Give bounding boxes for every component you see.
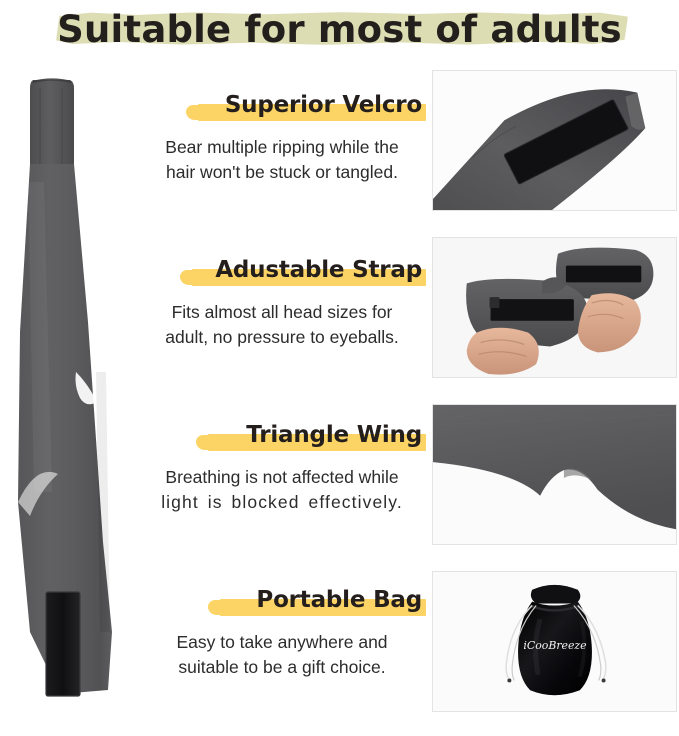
- feature-body-line-1: Easy to take anywhere and: [142, 630, 422, 655]
- feature-item-triangle-wing: Triangle Wing Breathing is not affected …: [138, 414, 428, 571]
- feature-heading-row: Triangle Wing: [138, 414, 428, 456]
- drawstring-pouch-illustration: iCooBreeze: [433, 572, 676, 711]
- feature-heading-row: Superior Velcro: [138, 84, 428, 126]
- feature-body-line-2: light is blocked effectively.: [142, 490, 422, 515]
- feature-body-text: Bear multiple ripping while the hair won…: [138, 135, 428, 185]
- feature-body-text: Easy to take anywhere and suitable to be…: [138, 630, 428, 680]
- feature-heading-row: Adustable Strap: [138, 249, 428, 291]
- feature-heading-row: Portable Bag: [138, 579, 428, 621]
- product-photo-velcro: [432, 70, 677, 211]
- product-photo-portable-bag: iCooBreeze: [432, 571, 677, 712]
- page-title-banner: Suitable for most of adults: [0, 0, 679, 62]
- product-photo-triangle-wing: [432, 404, 677, 545]
- feature-heading-text: Portable Bag: [256, 587, 422, 613]
- feature-body-text: Fits almost all head sizes for adult, no…: [138, 300, 428, 350]
- feature-item-adjustable-strap: Adustable Strap Fits almost all head siz…: [138, 249, 428, 406]
- velcro-closeup-illustration: [433, 71, 676, 210]
- nose-notch-closeup-illustration: [433, 405, 676, 544]
- feature-heading-text: Triangle Wing: [246, 422, 422, 448]
- hero-product-photo: [0, 72, 138, 700]
- sleep-mask-flat-lay-illustration: [0, 72, 138, 700]
- feature-body-line-2: adult, no pressure to eyeballs.: [142, 325, 422, 350]
- hands-holding-strap-illustration: [433, 238, 676, 377]
- product-photo-adjustable-strap: [432, 237, 677, 378]
- page-title: Suitable for most of adults: [0, 0, 679, 58]
- feature-heading-text: Adustable Strap: [215, 257, 422, 283]
- feature-body-line-1: Bear multiple ripping while the: [142, 135, 422, 160]
- feature-body-line-1: Fits almost all head sizes for: [142, 300, 422, 325]
- feature-item-portable-bag: Portable Bag Easy to take anywhere and s…: [138, 579, 428, 736]
- feature-body-line-2: hair won't be stuck or tangled.: [142, 160, 422, 185]
- feature-body-line-1: Breathing is not affected while: [142, 465, 422, 490]
- feature-heading-text: Superior Velcro: [225, 92, 422, 118]
- feature-list: Superior Velcro Bear multiple ripping wh…: [138, 72, 428, 702]
- bag-logo-text: iCooBreeze: [523, 639, 586, 652]
- feature-body-text: Breathing is not affected while light is…: [138, 465, 428, 515]
- feature-item-superior-velcro: Superior Velcro Bear multiple ripping wh…: [138, 84, 428, 241]
- feature-body-line-2: suitable to be a gift choice.: [142, 655, 422, 680]
